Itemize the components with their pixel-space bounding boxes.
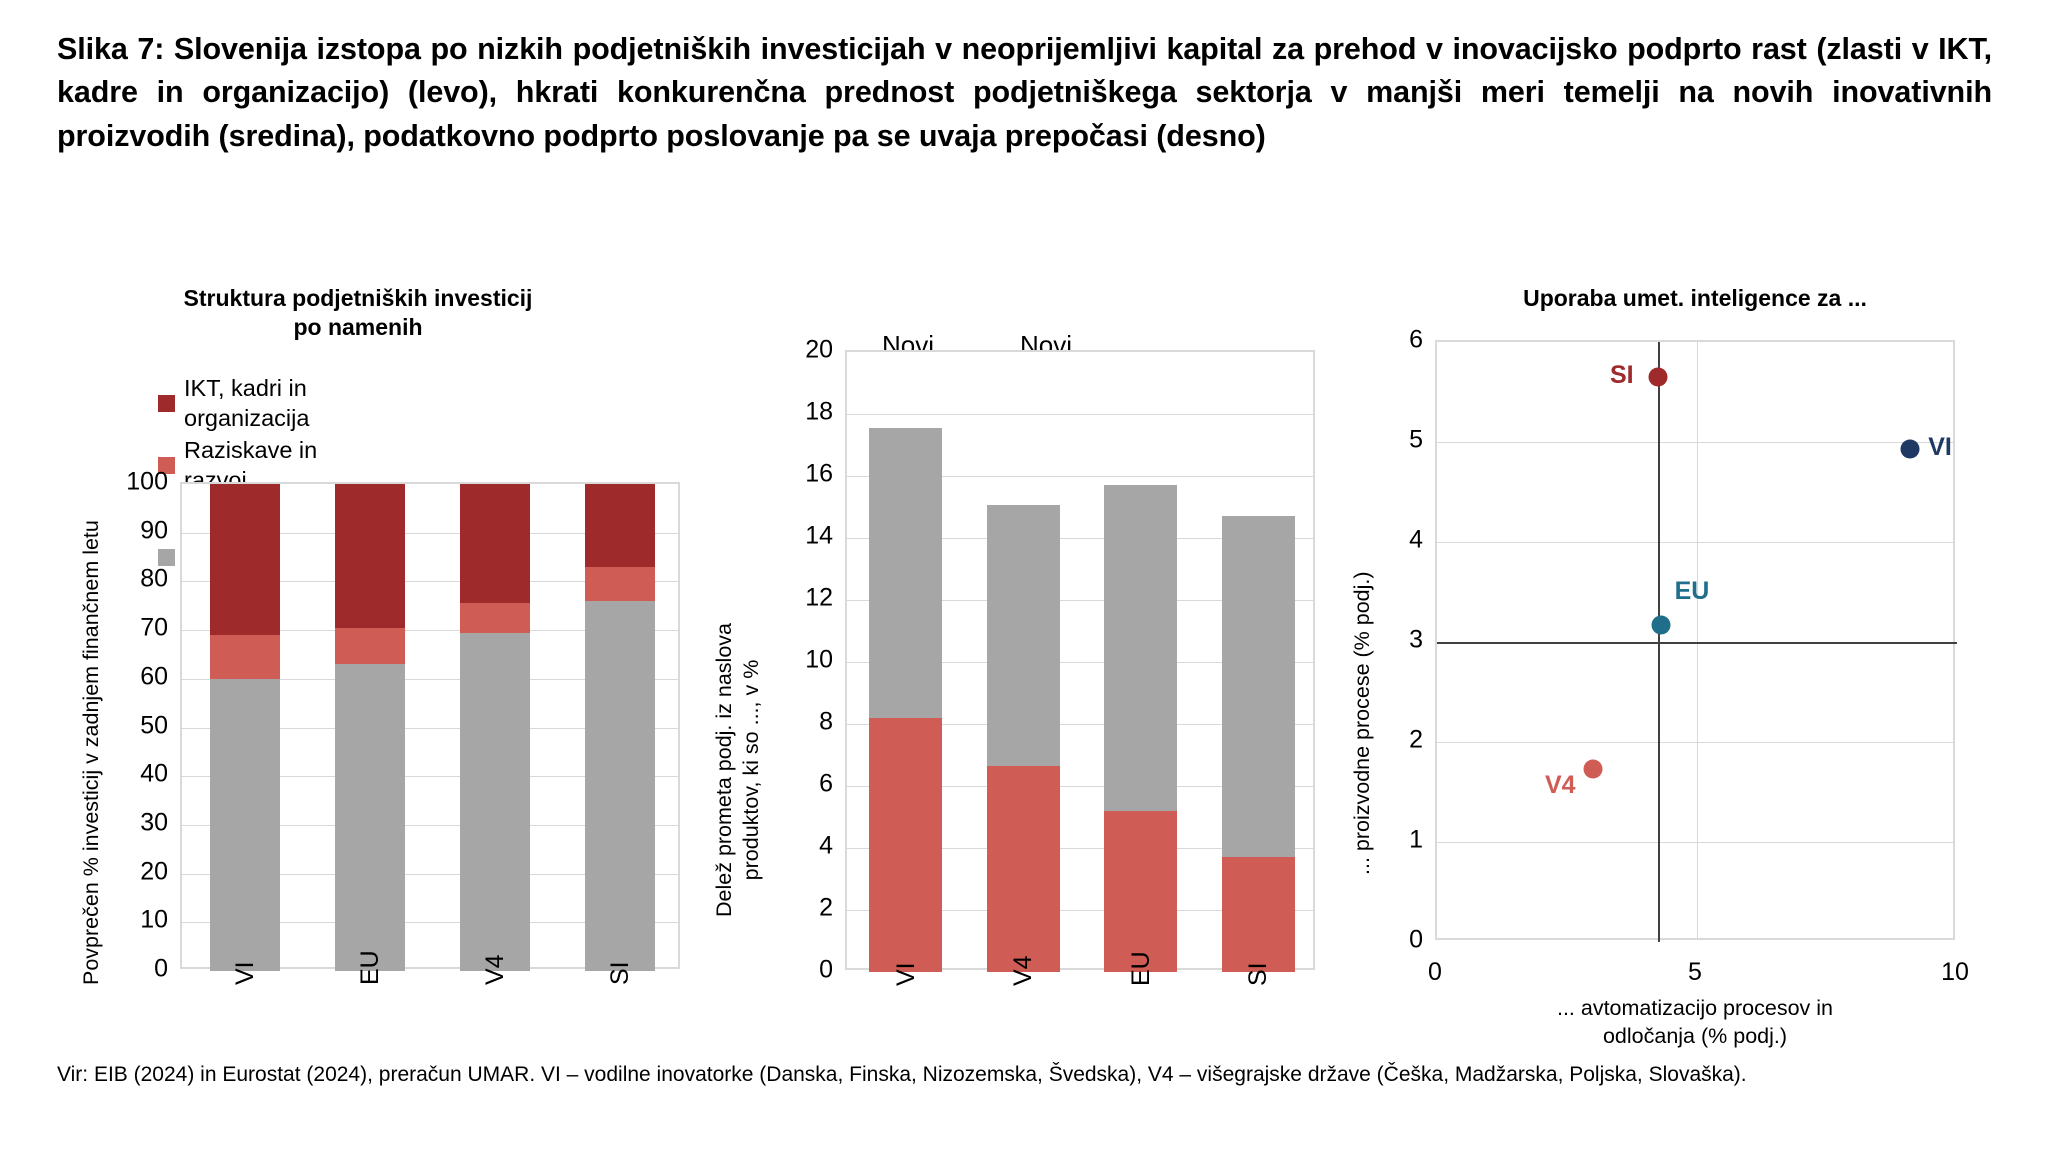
middle-chart-bar-segment: [869, 428, 942, 718]
legend-swatch-infra: [158, 549, 175, 566]
right-chart-reference-line-horizontal: [1437, 642, 1957, 644]
scatter-label-v4: V4: [1545, 771, 1576, 800]
right-chart-y-tick: 1: [1363, 828, 1423, 853]
right-chart-gridline-h: [1437, 842, 1953, 843]
right-x-axis-line2: odločanja (% podj.): [1435, 1023, 1955, 1051]
middle-chart-bar-segment: [1222, 516, 1295, 857]
scatter-label-vi: VI: [1928, 433, 1952, 462]
left-chart-bar-segment: [210, 635, 280, 679]
middle-chart-y-tick: 6: [767, 772, 833, 797]
left-chart-y-tick: 80: [102, 567, 168, 592]
left-chart-plot-area: [180, 482, 680, 969]
left-chart-bar-segment: [585, 601, 655, 971]
middle-chart-bar-segment: [987, 505, 1060, 765]
scatter-point-vi[interactable]: [1901, 440, 1920, 459]
middle-chart-x-tick: V4: [1009, 955, 1038, 986]
left-chart-title-line2: po namenih: [78, 313, 638, 342]
left-chart-y-tick: 30: [102, 810, 168, 835]
left-chart-y-tick: 50: [102, 713, 168, 738]
right-chart-y-tick: 0: [1363, 928, 1423, 953]
left-chart-bar: [460, 484, 530, 971]
middle-chart-y-tick: 12: [767, 586, 833, 611]
middle-chart-bar-segment: [1104, 811, 1177, 972]
left-chart-bar-segment: [210, 484, 280, 635]
source-note: Vir: EIB (2024) in Eurostat (2024), prer…: [57, 1060, 1992, 1090]
right-chart-x-tick: 5: [1688, 958, 1702, 987]
left-chart-bar-segment: [335, 628, 405, 665]
left-chart-x-tick: V4: [481, 954, 510, 985]
right-chart-y-tick: 5: [1363, 428, 1423, 453]
right-x-axis-line1: ... avtomatizacijo procesov in: [1435, 995, 1955, 1023]
left-chart-title-line1: Struktura podjetniških investicij: [78, 284, 638, 313]
left-chart-bar-segment: [210, 679, 280, 971]
left-chart-title: Struktura podjetniških investicij po nam…: [78, 284, 638, 343]
middle-chart-y-tick: 0: [767, 958, 833, 983]
right-chart-y-tick: 6: [1363, 328, 1423, 353]
middle-chart-x-tick: VI: [892, 962, 921, 986]
left-chart-y-tick: 60: [102, 664, 168, 689]
right-chart-y-tick: 3: [1363, 628, 1423, 653]
right-chart-plot-area: SIVIEUV4: [1435, 340, 1955, 940]
left-chart-y-tick: 0: [102, 957, 168, 982]
left-chart-bar-segment: [585, 567, 655, 601]
middle-chart-bar-segment: [869, 718, 942, 972]
middle-chart-bar: [987, 352, 1060, 972]
left-chart-bar-segment: [460, 633, 530, 971]
left-chart-y-tick: 100: [102, 470, 168, 495]
middle-chart-bar: [1104, 352, 1177, 972]
middle-chart-y-tick: 4: [767, 834, 833, 859]
middle-chart-y-tick: 18: [767, 400, 833, 425]
left-chart-bar: [335, 484, 405, 971]
left-chart-y-axis-title: Povprečen % investicij v zadnjem finančn…: [78, 520, 105, 985]
left-chart-x-tick: EU: [356, 950, 385, 985]
middle-chart-plot-area: [845, 350, 1315, 970]
middle-chart-y-tick: 16: [767, 462, 833, 487]
legend-swatch-ikt: [158, 395, 175, 412]
right-chart-x-tick: 10: [1941, 958, 1969, 987]
left-chart-bar-segment: [335, 484, 405, 628]
middle-chart-bar: [1222, 352, 1295, 972]
middle-chart-y-tick: 10: [767, 648, 833, 673]
figure-caption: Slika 7: Slovenija izstopa po nizkih pod…: [57, 28, 1992, 158]
right-chart-title: Uporaba umet. inteligence za ...: [1375, 284, 2015, 313]
right-chart-x-tick: 0: [1428, 958, 1442, 987]
middle-chart-bar-segment: [1222, 857, 1295, 972]
right-chart-gridline-v: [1697, 342, 1698, 938]
left-chart-bar-segment: [585, 484, 655, 567]
middle-chart-y-tick: 8: [767, 710, 833, 735]
left-chart-x-tick: VI: [231, 961, 260, 985]
middle-chart-bar-segment: [987, 766, 1060, 972]
left-chart-bar: [210, 484, 280, 971]
left-chart-y-tick: 20: [102, 859, 168, 884]
middle-chart-y-axis-title: Delež prometa podj. iz naslova produktov…: [711, 555, 765, 985]
left-chart-y-tick: 70: [102, 616, 168, 641]
scatter-point-v4[interactable]: [1584, 760, 1603, 779]
middle-chart-x-tick: EU: [1127, 951, 1156, 986]
right-chart-y-tick: 2: [1363, 728, 1423, 753]
middle-chart-x-tick: SI: [1244, 962, 1273, 986]
left-chart-bar-segment: [460, 603, 530, 632]
left-chart-y-tick: 90: [102, 518, 168, 543]
right-chart-gridline-h: [1437, 542, 1953, 543]
scatter-point-eu[interactable]: [1651, 616, 1670, 635]
middle-chart-y-tick: 2: [767, 896, 833, 921]
right-chart-gridline-h: [1437, 742, 1953, 743]
right-chart-gridline-h: [1437, 442, 1953, 443]
middle-chart-bar-segment: [1104, 485, 1177, 811]
middle-chart-y-tick: 20: [767, 338, 833, 363]
right-chart-y-tick: 4: [1363, 528, 1423, 553]
left-chart-bar: [585, 484, 655, 971]
left-chart-x-tick: SI: [606, 961, 635, 985]
left-chart-y-tick: 10: [102, 908, 168, 933]
legend-item-ikt[interactable]: IKT, kadri in organizacija: [158, 373, 329, 433]
middle-y-axis-line2: produktov, ki so ..., v %: [738, 555, 765, 985]
scatter-label-si: SI: [1610, 361, 1634, 390]
middle-chart-bar: [869, 352, 942, 972]
middle-y-axis-line1: Delež prometa podj. iz naslova: [711, 555, 738, 985]
right-chart-x-axis-title: ... avtomatizacijo procesov in odločanja…: [1435, 995, 1955, 1051]
left-chart-bar-segment: [460, 484, 530, 603]
scatter-label-eu: EU: [1675, 577, 1710, 606]
scatter-point-si[interactable]: [1649, 368, 1668, 387]
left-chart-y-tick: 40: [102, 762, 168, 787]
legend-label-ikt: IKT, kadri in organizacija: [184, 373, 329, 433]
left-chart-bar-segment: [335, 664, 405, 971]
middle-chart-y-tick: 14: [767, 524, 833, 549]
